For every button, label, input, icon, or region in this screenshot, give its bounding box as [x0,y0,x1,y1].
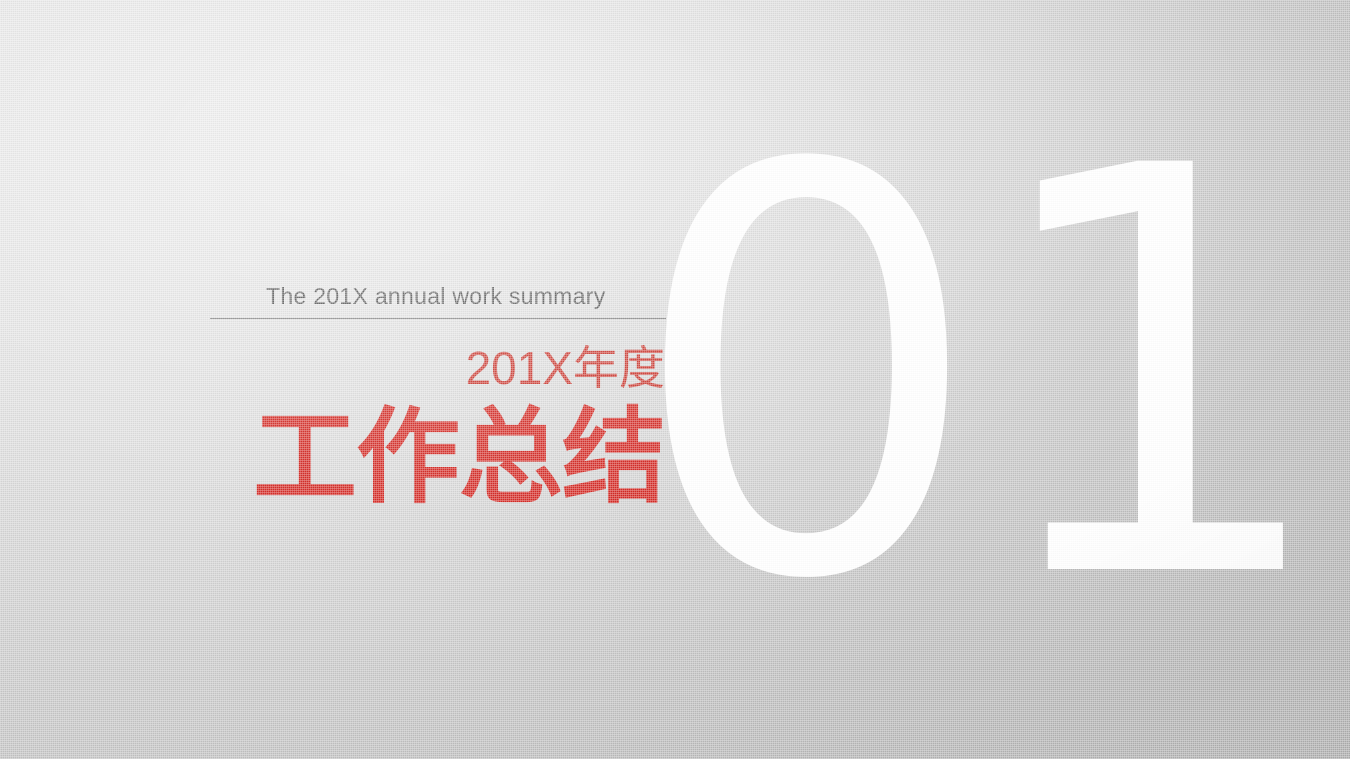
presentation-slide: 01 The 201X annual work summary 201X年度 工… [0,0,1350,759]
slide-subtitle: 201X年度 [5,345,665,391]
slide-title: 工作总结 [5,406,665,510]
title-group: The 201X annual work summary 201X年度 工作总结 [0,0,668,759]
horizontal-divider [210,318,666,319]
section-number-watermark: 01 [628,96,1329,656]
slide-eyebrow-text: The 201X annual work summary [266,283,606,310]
